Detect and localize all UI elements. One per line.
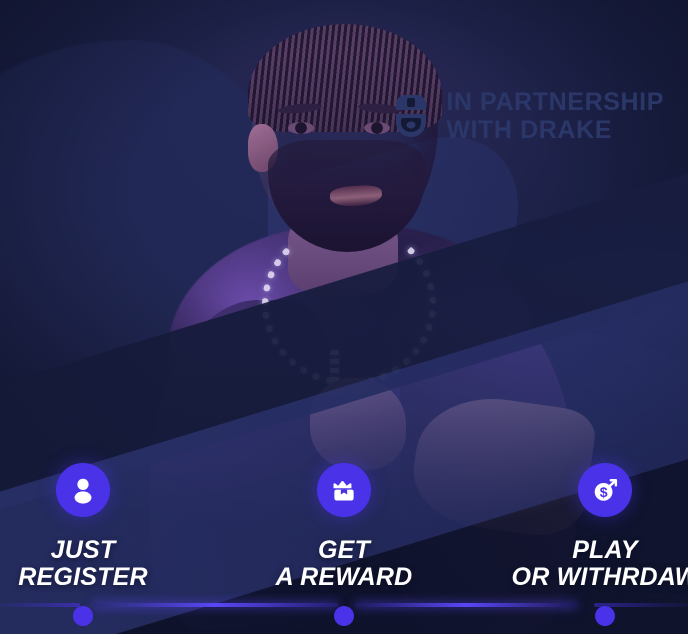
step-play-withdraw-dot-wrap [490, 590, 688, 634]
steps-section: JUST REGISTER GET A REWARD [0, 444, 688, 634]
step-register-line-1: JUST [0, 537, 198, 564]
svg-text:$: $ [600, 484, 608, 500]
progress-dot-3[interactable] [595, 606, 615, 626]
partnership-text: IN PARTNERSHIP WITH DRAKE [446, 88, 664, 144]
step-play-withdraw-line-1: PLAY [490, 537, 688, 564]
progress-dot-1[interactable] [73, 606, 93, 626]
step-register-line-2: REGISTER [0, 564, 198, 591]
progress-dot-2[interactable] [334, 606, 354, 626]
step-register[interactable]: JUST REGISTER [0, 463, 198, 634]
partnership-line-2: WITH DRAKE [446, 116, 664, 144]
gift-box-icon [317, 463, 371, 517]
bearded-face-logo-icon [390, 92, 432, 140]
step-register-dot-wrap [0, 590, 198, 634]
portrait-eye-right [364, 122, 390, 134]
step-play-withdraw[interactable]: $ PLAY OR WITHRDAW [490, 463, 688, 634]
step-play-withdraw-line-2: OR WITHRDAW [490, 564, 688, 591]
step-reward-dot-wrap [229, 590, 459, 634]
partnership-badge: IN PARTNERSHIP WITH DRAKE [390, 88, 664, 144]
step-play-withdraw-label: PLAY OR WITHRDAW [490, 537, 688, 590]
promo-banner: IN PARTNERSHIP WITH DRAKE JUST REGISTER [0, 0, 688, 634]
money-growth-icon: $ [578, 463, 632, 517]
step-reward-line-2: A REWARD [229, 564, 459, 591]
step-register-label: JUST REGISTER [0, 537, 198, 590]
portrait-eye-left [288, 122, 314, 134]
step-reward-label: GET A REWARD [229, 537, 459, 590]
step-reward-line-1: GET [229, 537, 459, 564]
user-icon [56, 463, 110, 517]
partnership-line-1: IN PARTNERSHIP [446, 88, 664, 116]
step-reward[interactable]: GET A REWARD [229, 463, 459, 634]
